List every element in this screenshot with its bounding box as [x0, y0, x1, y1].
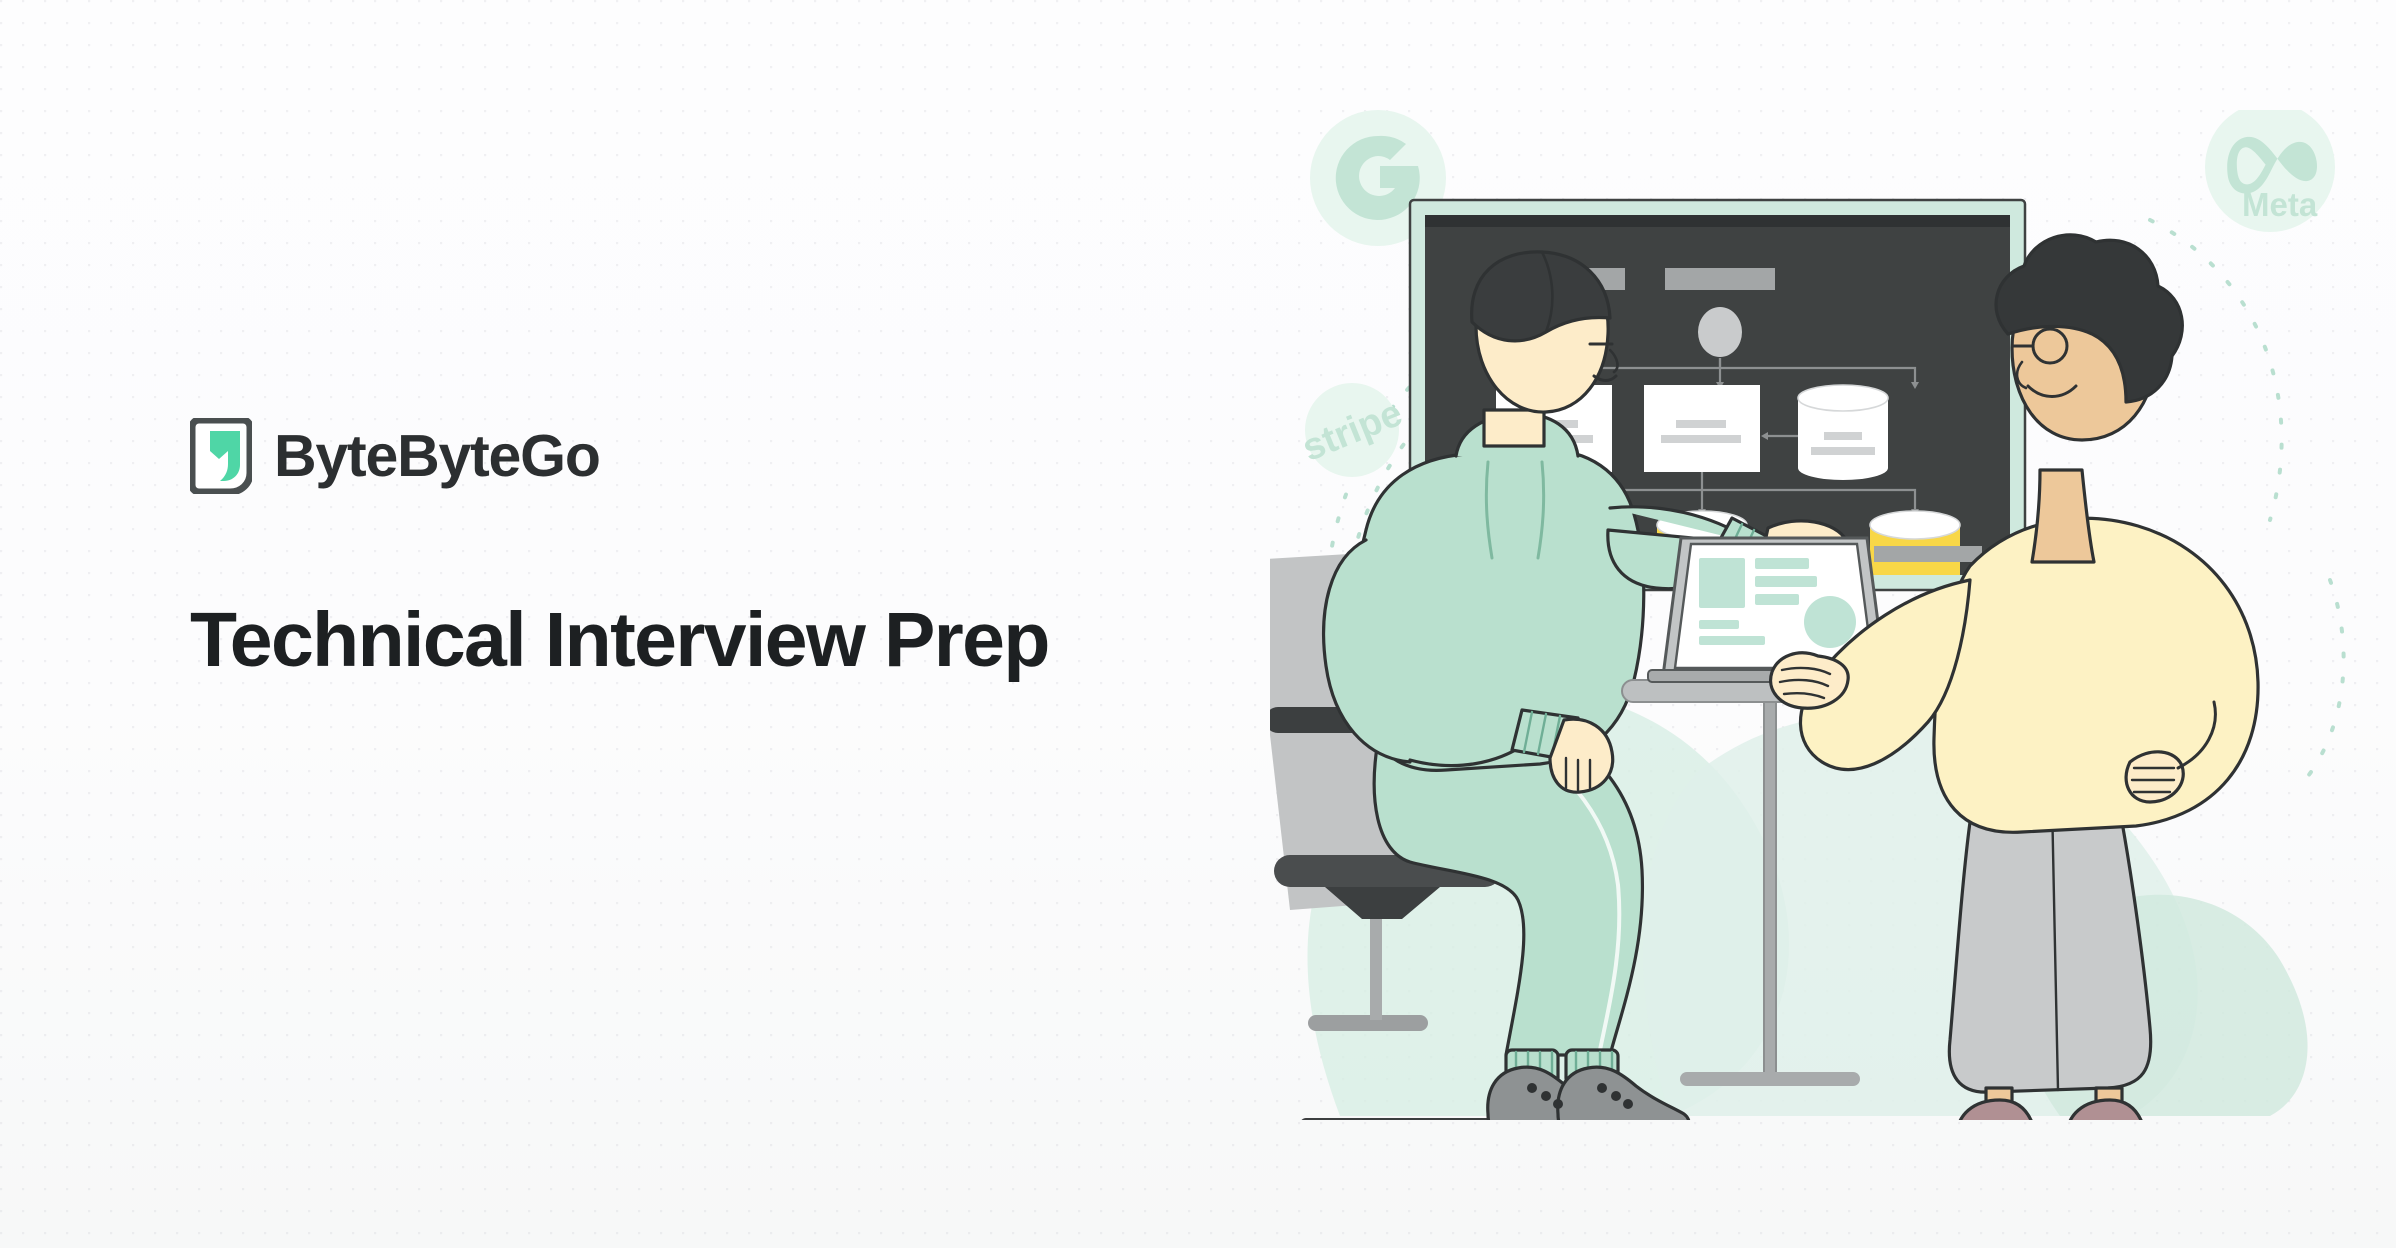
left-content-column: ByteByteGo Technical Interview Prep: [190, 418, 1290, 681]
brand-lockup: ByteByteGo: [190, 418, 1290, 494]
meta-logo-badge: Meta: [2205, 102, 2335, 234]
technical-interview-illustration: Meta stripe: [1270, 110, 2396, 1170]
brand-name: ByteByteGo: [274, 427, 600, 486]
diagram-user-node: [1698, 307, 1742, 357]
diagram-header-bar: [1665, 268, 1775, 290]
stripe-logo-badge: stripe: [1297, 383, 1409, 477]
bytebytego-logo-mark-icon: [190, 418, 252, 494]
diagram-cache-cylinder: [1798, 385, 1888, 480]
banner-root: ByteByteGo Technical Interview Prep: [0, 0, 2396, 1248]
svg-text:Meta: Meta: [2242, 186, 2318, 223]
page-title: Technical Interview Prep: [190, 600, 1290, 681]
diagram-service-box: [1644, 385, 1760, 472]
